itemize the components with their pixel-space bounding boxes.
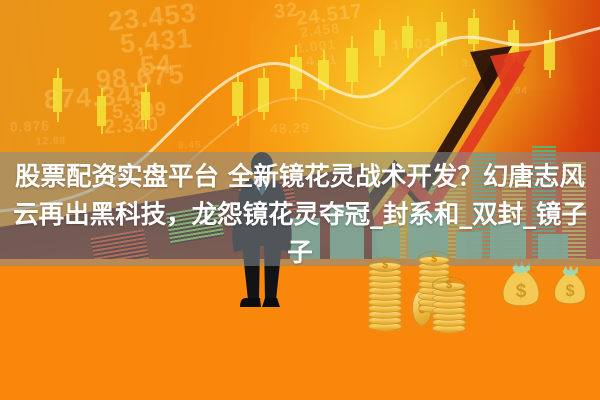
svg-text:$: $ bbox=[565, 282, 574, 300]
gold-coin-top: $ bbox=[368, 257, 402, 272]
headline-text: 股票配资实盘平台 全新镜花灵战术开发？幻唐志风云再出黑科技，龙怨镜花灵夺冠_封系… bbox=[0, 158, 600, 272]
gold-coin-top: $ bbox=[432, 277, 466, 292]
thumbnail-image: 23.4535,4315498.675874.3455.3092.3403224… bbox=[0, 0, 600, 400]
gold-coin-top: $ bbox=[418, 251, 450, 266]
coin-stack: $ bbox=[432, 282, 466, 339]
svg-text:$: $ bbox=[516, 281, 527, 302]
coin-stack: $ bbox=[368, 262, 402, 337]
